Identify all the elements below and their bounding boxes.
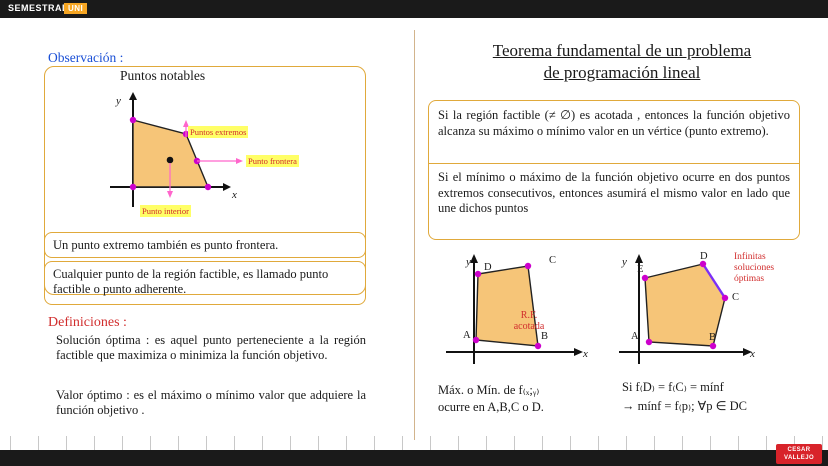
fig1-caption: Máx. o Mín. de f₍ₓ;ᵧ₎ ocurre en A,B,C o …: [438, 382, 608, 416]
fig1-x-axis-label: x: [583, 348, 588, 360]
brand-uni-badge: UNI: [64, 3, 87, 14]
fig1-vertex-C: C: [549, 255, 556, 266]
fig1-caption-line1: Máx. o Mín. de f₍ₓ;ᵧ₎: [438, 383, 539, 397]
fig2-annotation: Infinitas soluciones óptimas: [734, 252, 774, 285]
frontier-point-label: Punto frontera: [246, 155, 299, 167]
fig1-region-label: R.F. acotada: [505, 310, 553, 332]
theorem-title-line1: Teorema fundamental de un problema: [493, 41, 751, 60]
theorem-title: Teorema fundamental de un problema de pr…: [432, 40, 812, 84]
notable-points-title: Puntos notables: [120, 68, 205, 84]
fig1-y-axis-label: y: [466, 256, 471, 268]
fig2-vertex-E: E: [637, 264, 643, 275]
definitions-title: Definiciones :: [48, 315, 127, 331]
fig2-annotation-line1: Infinitas: [734, 252, 766, 262]
interior-point-label: Punto interior: [140, 205, 191, 217]
graph1-y-axis-label: y: [116, 95, 121, 107]
theorem-separator: [429, 163, 799, 164]
fig1-vertex-B: B: [541, 331, 548, 342]
fig1-region-label-line1: R.F.: [521, 310, 537, 321]
column-divider: [414, 30, 415, 440]
theorem-paragraph-1: Si la región factible (≠ ∅) es acotada ,…: [438, 108, 790, 139]
observation-title: Observación :: [48, 50, 123, 66]
extreme-points-label: Puntos extremos: [188, 126, 248, 138]
definition-optimal-value: Valor óptimo : es el máximo o mínimo val…: [56, 388, 366, 418]
fig1-region-label-line2: acotada: [514, 321, 545, 332]
fig2-y-axis-label: y: [622, 256, 627, 268]
statement-extreme-is-frontier: Un punto extremo también es punto fronte…: [44, 232, 366, 258]
fig2-caption: Si f₍D₎ = f₍C₎ = mínf → mínf = f₍p₎; ∀p …: [622, 378, 812, 416]
fig1-vertex-D: D: [484, 262, 492, 273]
top-bar: [0, 0, 828, 18]
theorem-paragraph-2: Si el mínimo o máximo de la función obje…: [438, 170, 790, 217]
cesar-vallejo-logo: CESAR VALLEJO: [776, 444, 822, 464]
fig2-annotation-line3: óptimas: [734, 274, 764, 284]
fig2-caption-line1: Si f₍D₎ = f₍C₎ = mínf: [622, 380, 724, 394]
bottom-bar: [0, 450, 828, 466]
fig2-x-axis-label: x: [750, 348, 755, 360]
fig2-vertex-B: B: [709, 332, 716, 343]
definition-optimal-solution: Solución óptima : es aquel punto pertene…: [56, 333, 366, 363]
fig2-caption-line2: → mínf = f₍p₎; ∀p ∈ DC: [622, 399, 747, 413]
fig2-vertex-A: A: [631, 331, 639, 342]
bottom-tick-marks: [0, 436, 828, 450]
fig1-caption-line2: ocurre en A,B,C o D.: [438, 400, 544, 414]
brand-semestral: SEMESTRAL: [8, 3, 68, 13]
fig2-annotation-line2: soluciones: [734, 263, 774, 273]
fig2-vertex-D: D: [700, 251, 708, 262]
graph1-x-axis-label: x: [232, 189, 237, 201]
fig1-vertex-A: A: [463, 330, 471, 341]
notable-points-figure: [100, 92, 290, 212]
fig2-vertex-C: C: [732, 292, 739, 303]
theorem-title-line2: de programación lineal: [544, 63, 701, 82]
statement-feasible-point: Cualquier punto de la región factible, e…: [44, 261, 366, 305]
